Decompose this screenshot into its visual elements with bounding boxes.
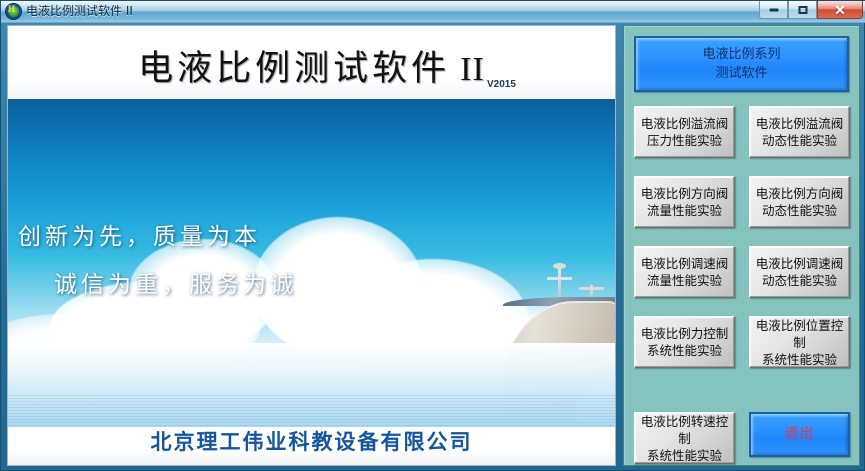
maximize-button[interactable] [788, 1, 817, 19]
sidebar-header-button[interactable]: 电液比例系列 测试软件 [634, 36, 849, 92]
app-logo-icon: H [6, 4, 21, 19]
button-label-line-1: 电液比例转速控制 [635, 413, 734, 447]
button-label-line-1: 电液比例方向阀 [641, 185, 729, 202]
button-label: 电液比例调速阀 动态性能实验 [756, 255, 844, 289]
experiment-button-speed-valve-flow[interactable]: 电液比例调速阀 流量性能实验 [634, 246, 735, 298]
window-frame: H 电液比例测试软件 II ✕ [0, 0, 865, 471]
button-label: 电液比例力控制 系统性能实验 [641, 325, 729, 359]
experiment-button-relief-valve-pressure[interactable]: 电液比例溢流阀 压力性能实验 [634, 106, 735, 158]
button-label-line-2: 动态性能实验 [756, 132, 844, 149]
sidebar-header-line-1: 电液比例系列 [702, 45, 780, 64]
maximize-icon [798, 6, 807, 14]
banner-photo: 创新为先，质量为本 诚信为重，服务为诚 [8, 99, 615, 429]
company-name: 北京理工伟业科教设备有限公司 [8, 426, 615, 456]
button-label: 电液比例方向阀 流量性能实验 [641, 185, 729, 219]
experiment-button-speed-valve-dynamic[interactable]: 电液比例调速阀 动态性能实验 [749, 246, 850, 298]
button-label-line-1: 电液比例溢流阀 [756, 115, 844, 132]
exit-button-label: 退出 [785, 425, 815, 444]
page-title: 电液比例测试软件II [8, 40, 615, 91]
button-label: 电液比例转速控制 系统性能实验 [635, 413, 734, 464]
close-icon: ✕ [834, 3, 846, 17]
button-label-line-1: 电液比例方向阀 [756, 185, 844, 202]
button-label-line-2: 动态性能实验 [756, 202, 844, 219]
sidebar-header-line-2: 测试软件 [702, 64, 780, 83]
version-label: V2015 [487, 79, 516, 90]
button-label-line-2: 动态性能实验 [756, 272, 844, 289]
exit-button[interactable]: 退出 [749, 412, 850, 457]
button-label-line-2: 系统性能实验 [750, 351, 849, 368]
page-title-roman: II [460, 51, 485, 88]
button-label: 电液比例溢流阀 动态性能实验 [756, 115, 844, 149]
button-label-line-2: 系统性能实验 [641, 342, 729, 359]
button-label-line-2: 流量性能实验 [641, 272, 729, 289]
button-label: 电液比例溢流阀 压力性能实验 [641, 115, 729, 149]
button-label: 电液比例位置控制 系统性能实验 [750, 317, 849, 368]
button-label-line-1: 电液比例溢流阀 [641, 115, 729, 132]
footer-band: 北京理工伟业科教设备有限公司 [8, 427, 615, 465]
button-label-line-2: 系统性能实验 [635, 447, 734, 464]
button-label-line-2: 流量性能实验 [641, 202, 729, 219]
window-controls: ✕ [759, 1, 863, 21]
button-label-line-1: 电液比例位置控制 [750, 317, 849, 351]
page-title-cn: 电液比例测试软件 [138, 49, 450, 89]
window-title: 电液比例测试软件 II [26, 3, 133, 20]
app-logo-letter: H [6, 4, 17, 15]
experiment-button-directional-valve-dynamic[interactable]: 电液比例方向阀 动态性能实验 [749, 176, 850, 228]
experiment-button-directional-valve-flow[interactable]: 电液比例方向阀 流量性能实验 [634, 176, 735, 228]
button-label: 电液比例调速阀 流量性能实验 [641, 255, 729, 289]
close-button[interactable]: ✕ [817, 1, 863, 19]
sidebar-panel: 电液比例系列 测试软件 电液比例溢流阀 压力性能实验 电液比例溢流阀 动态性能实… [623, 25, 860, 466]
experiment-button-speed-control-system[interactable]: 电液比例转速控制 系统性能实验 [634, 412, 735, 464]
button-label-line-1: 电液比例调速阀 [756, 255, 844, 272]
experiment-button-position-control-system[interactable]: 电液比例位置控制 系统性能实验 [749, 316, 850, 368]
sidebar-header-label: 电液比例系列 测试软件 [702, 45, 780, 83]
button-label-line-1: 电液比例力控制 [641, 325, 729, 342]
button-label-line-1: 电液比例调速阀 [641, 255, 729, 272]
button-label: 电液比例方向阀 动态性能实验 [756, 185, 844, 219]
main-content-panel: 电液比例测试软件II V2015 创新为先 [7, 25, 616, 466]
experiment-button-force-control-system[interactable]: 电液比例力控制 系统性能实验 [634, 316, 735, 368]
button-label-line-2: 压力性能实验 [641, 132, 729, 149]
application-window: H 电液比例测试软件 II ✕ [0, 0, 865, 471]
sea-surface [8, 343, 615, 429]
minimize-button[interactable] [759, 1, 788, 19]
title-bar[interactable]: H 电液比例测试软件 II ✕ [1, 1, 865, 23]
experiment-button-relief-valve-dynamic[interactable]: 电液比例溢流阀 动态性能实验 [749, 106, 850, 158]
minimize-icon [769, 8, 778, 11]
